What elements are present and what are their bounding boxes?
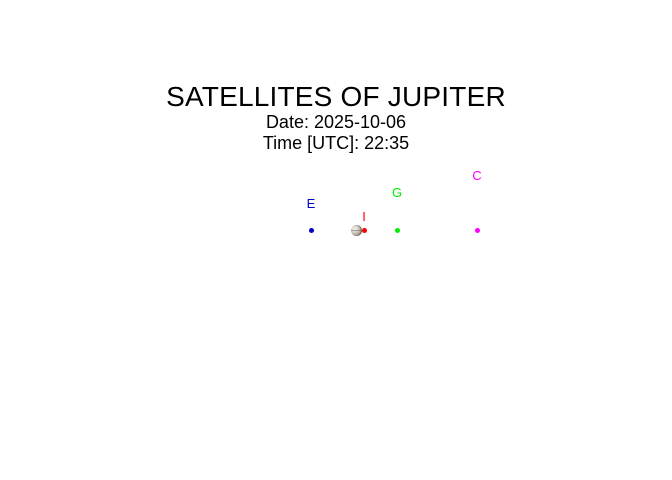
moon-label-io: I xyxy=(344,210,384,223)
jupiter-cloud-band xyxy=(351,230,362,231)
moon-marker-europa[interactable] xyxy=(309,228,314,233)
moon-marker-callisto[interactable] xyxy=(475,228,480,233)
moon-marker-io[interactable] xyxy=(362,228,367,233)
sky-plot-area: EIGC xyxy=(0,0,672,480)
satellite-view-canvas: SATELLITES OF JUPITER Date: 2025-10-06 T… xyxy=(0,0,672,480)
moon-marker-ganymede[interactable] xyxy=(395,228,400,233)
moon-label-callisto: C xyxy=(457,169,497,182)
moon-label-ganymede: G xyxy=(377,186,417,199)
jupiter-disk xyxy=(351,225,362,236)
moon-label-europa: E xyxy=(291,197,331,210)
